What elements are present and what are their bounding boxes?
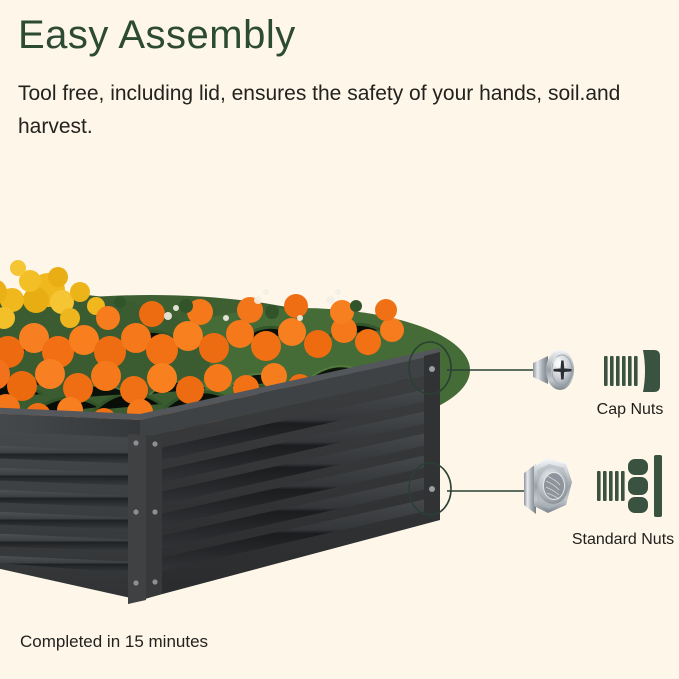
standard-nut-diagram-icon (597, 455, 662, 517)
cap-nut-diagram-icon (604, 350, 660, 392)
pan-head-screw-photo (533, 350, 574, 390)
callout-overlay (0, 0, 679, 679)
leader-cap-nuts (409, 342, 540, 394)
infographic-canvas: Easy Assembly Tool free, including lid, … (0, 0, 679, 679)
leader-standard-nuts (409, 463, 528, 515)
hex-nut-photo (524, 459, 572, 514)
